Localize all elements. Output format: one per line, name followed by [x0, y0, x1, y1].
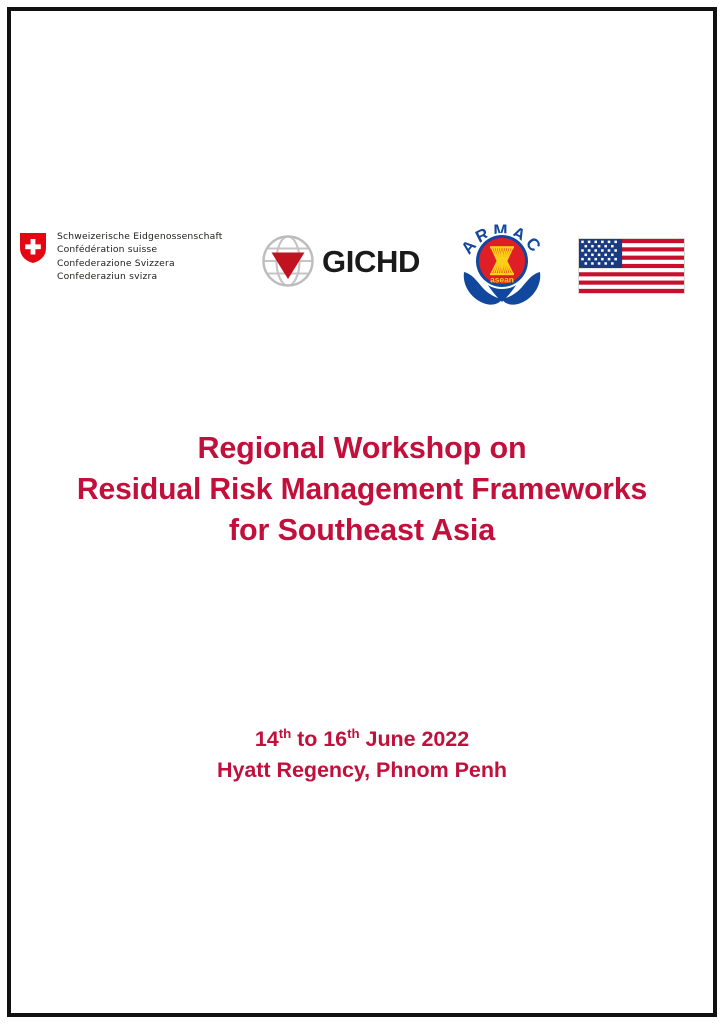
- swiss-name-it: Confederazione Svizzera: [57, 257, 223, 270]
- logo-row: Schweizerische Eidgenossenschaft Confédé…: [0, 208, 724, 308]
- event-date-start: 14: [255, 727, 279, 751]
- swiss-name-de: Schweizerische Eidgenossenschaft: [57, 230, 223, 243]
- logo-us-flag: [578, 238, 685, 294]
- event-date: 14th to 16th June 2022: [0, 724, 724, 755]
- event-date-ordinal-start: th: [279, 726, 292, 741]
- swiss-name-fr: Confédération suisse: [57, 243, 223, 256]
- event-venue: Hyatt Regency, Phnom Penh: [0, 755, 724, 786]
- gichd-wordmark: GICHD: [322, 246, 420, 277]
- svg-text:asean: asean: [490, 275, 514, 285]
- title-line-1: Regional Workshop on: [0, 428, 724, 469]
- title-line-2: Residual Risk Management Frameworks: [5, 469, 718, 510]
- logo-armac: ARMAC: [456, 214, 548, 310]
- logo-gichd: GICHD: [261, 234, 420, 288]
- event-date-month-year: June 2022: [360, 727, 470, 751]
- event-date-ordinal-end: th: [347, 726, 360, 741]
- event-date-separator: to 16: [291, 727, 347, 751]
- event-details: 14th to 16th June 2022 Hyatt Regency, Ph…: [0, 724, 724, 786]
- document-title: Regional Workshop on Residual Risk Manag…: [0, 428, 724, 551]
- armac-asean-hands-icon: ARMAC: [456, 214, 548, 310]
- title-line-3: for Southeast Asia: [0, 510, 724, 551]
- swiss-shield-icon: [20, 233, 46, 263]
- globe-triangle-icon: [261, 234, 315, 288]
- swiss-confederation-names: Schweizerische Eidgenossenschaft Confédé…: [57, 230, 223, 283]
- us-flag-icon: [579, 239, 684, 293]
- swiss-name-rm: Confederaziun svizra: [57, 270, 223, 283]
- logo-swiss-confederation: Schweizerische Eidgenossenschaft Confédé…: [20, 230, 223, 283]
- document-page: Schweizerische Eidgenossenschaft Confédé…: [0, 0, 724, 1024]
